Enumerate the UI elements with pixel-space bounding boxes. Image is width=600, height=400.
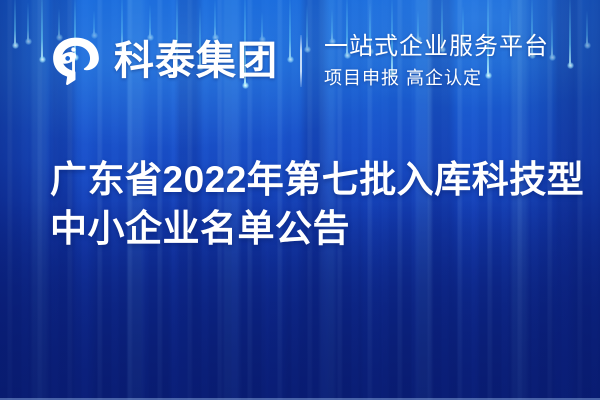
meteor-streak-dot: [549, 54, 556, 61]
meteor-streak: [27, 2, 29, 42]
meteor-streak-dot: [584, 42, 591, 49]
slogan-sub-text: 项目申报 高企认定: [324, 68, 549, 89]
meteor-streak: [586, 10, 588, 46]
meteor-streak-dot: [567, 62, 574, 69]
announcement-title: 广东省2022年第七批入库科技型 中小企业名单公告: [50, 155, 570, 253]
meteor-streak-dot: [12, 42, 19, 49]
title-line-1: 广东省2022年第七批入库科技型: [50, 155, 570, 204]
meteor-streak-dot: [25, 38, 32, 45]
slogan-block: 一站式企业服务平台 项目申报 高企认定: [324, 33, 549, 88]
title-line-2: 中小企业名单公告: [50, 204, 570, 253]
meteor-streak: [41, 0, 43, 60]
meteor-streak: [551, 14, 553, 58]
slogan-main-text: 一站式企业服务平台: [324, 33, 549, 61]
brand-name: 科泰集团: [114, 41, 278, 81]
ketai-circle-logo-icon: [50, 35, 102, 87]
meteor-streak-dot: [39, 56, 46, 63]
announcement-banner: 科泰集团 一站式企业服务平台 项目申报 高企认定 广东省2022年第七批入库科技…: [0, 0, 600, 400]
banner-header: 科泰集团 一站式企业服务平台 项目申报 高企认定: [50, 30, 549, 92]
header-divider: [300, 35, 302, 87]
meteor-streak: [14, 0, 16, 46]
meteor-streak: [569, 0, 571, 66]
